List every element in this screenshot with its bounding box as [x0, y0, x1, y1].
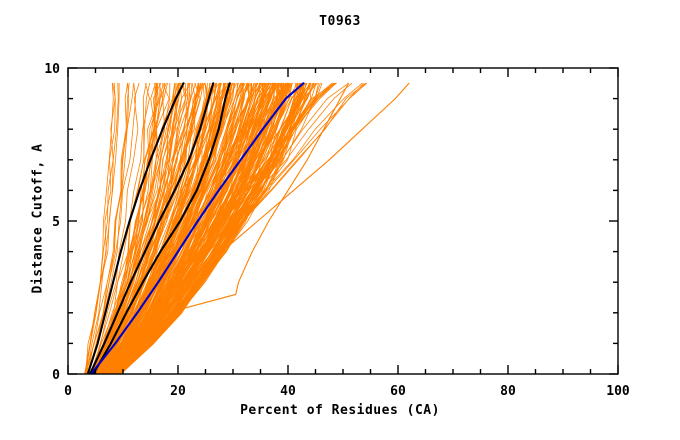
- x-tick-label: 20: [170, 384, 186, 399]
- y-tick-label: 5: [52, 215, 60, 230]
- y-tick-label: 10: [44, 62, 60, 77]
- x-tick-label: 60: [390, 384, 406, 399]
- x-tick-label: 40: [280, 384, 296, 399]
- y-tick-label: 0: [52, 368, 60, 383]
- x-tick-label: 80: [500, 384, 516, 399]
- x-tick-label: 0: [64, 384, 72, 399]
- x-tick-label: 100: [606, 384, 630, 399]
- plot-canvas: 020406080100 0510: [0, 0, 680, 440]
- x-axis-label: Percent of Residues (CA): [0, 403, 680, 418]
- x-axis-tick-labels: 020406080100: [64, 384, 630, 399]
- y-axis-tick-labels: 0510: [44, 62, 60, 383]
- curves-layer: [85, 83, 409, 374]
- plot-page: T0963 020406080100 0510 Percent of Resid…: [0, 0, 680, 440]
- y-axis-label: Distance Cutoff, A: [31, 89, 46, 349]
